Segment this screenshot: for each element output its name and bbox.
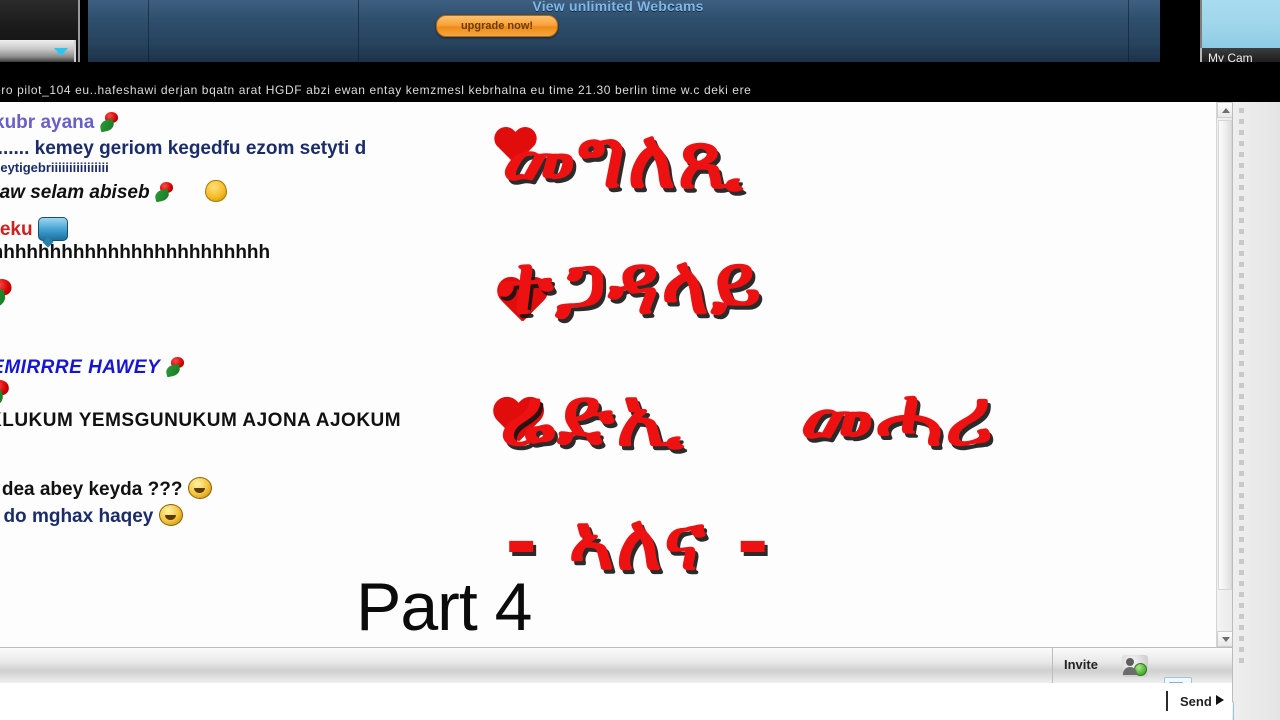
chat-text: a dea abey keyda ???: [0, 479, 182, 500]
my-cam-preview[interactable]: [1200, 0, 1280, 48]
chat-message: vo do mghax haqey: [0, 504, 183, 528]
scroll-up-arrow-icon[interactable]: [1217, 102, 1233, 118]
camera-select-dropdown[interactable]: [0, 40, 76, 62]
rose-emoticon-icon: [0, 380, 14, 408]
chat-message: KLUKUM YEMSGUNUKUM AJONA AJOKUM: [0, 410, 401, 432]
overlay-line-3a: ሬድኢ: [500, 370, 686, 466]
chat-scrollbar[interactable]: [1216, 102, 1233, 647]
panel-grip-dots: [1239, 108, 1244, 668]
rose-emoticon-icon: [166, 357, 188, 377]
plus-badge-icon: [1134, 663, 1147, 676]
chat-text: ............ kemey geriom kegedfu ezom s…: [0, 138, 366, 159]
scroll-down-arrow-icon[interactable]: [1217, 631, 1233, 647]
chat-text: haw selam abiseb: [0, 182, 150, 203]
chat-message: aleku: [0, 217, 68, 241]
chat-message: [0, 384, 10, 405]
overlay-line-2: ተጋዳላይ: [498, 238, 763, 334]
chat-text: riat zeytigebriiiiiiiiiiiiiiii: [0, 160, 109, 175]
send-button[interactable]: Send: [1180, 694, 1224, 709]
chat-text: vo do mghax haqey: [0, 506, 153, 527]
chat-message: haw selam abiseb: [0, 180, 227, 204]
promo-banner[interactable]: View unlimited Webcams upgrade now!: [88, 0, 1160, 63]
scrollbar-thumb[interactable]: [1218, 120, 1232, 590]
chat-text: aleku: [0, 219, 33, 240]
chat-text: SEMIRRRE HAWEY: [0, 357, 160, 378]
panel-gap-left: [0, 62, 88, 82]
rose-emoticon-icon: [0, 279, 18, 309]
chat-text: KLUKUM YEMSGUNUKUM AJONA AJOKUM: [0, 410, 401, 431]
overlay-line-1: መግለጺ: [502, 112, 745, 208]
chat-message: riat zeytigebriiiiiiiiiiiiiiii: [0, 160, 109, 175]
chevron-down-icon: [54, 48, 68, 56]
invite-button[interactable]: Invite: [1064, 657, 1098, 672]
smiley-emoticon-icon: [159, 504, 183, 526]
chat-message: kubr ayana: [0, 112, 122, 134]
thumbs-up-emoticon-icon: [205, 180, 227, 202]
chat-bubble-emoticon-icon: [38, 217, 68, 241]
add-user-icon[interactable]: [1122, 655, 1148, 677]
smiley-emoticon-icon: [188, 477, 212, 499]
message-input-bar[interactable]: Send: [0, 683, 1232, 720]
text-cursor: [1166, 691, 1168, 711]
chat-toolbar: Invite: [0, 647, 1232, 685]
panel-gap-main: [88, 62, 1280, 82]
ticker-text: ero pilot_104 eu..hafeshawi derjan bqatn…: [0, 83, 751, 97]
chat-message: [0, 284, 12, 305]
rose-emoticon-icon: [155, 182, 177, 202]
chat-message: a dea abey keyda ???: [0, 477, 212, 501]
chat-nickname[interactable]: kubr ayana: [0, 112, 94, 133]
chat-text: hhhhhhhhhhhhhhhhhhhhhhhhh: [0, 242, 270, 263]
top-banner-strip: View unlimited Webcams upgrade now! My C…: [0, 0, 1280, 82]
rose-emoticon-icon: [100, 112, 122, 132]
status-ticker: ero pilot_104 eu..hafeshawi derjan bqatn…: [0, 82, 1280, 102]
banner-divider: [1128, 0, 1129, 62]
video-left-panel: [0, 0, 80, 62]
chat-message: hhhhhhhhhhhhhhhhhhhhhhhhh: [0, 242, 270, 264]
promo-text: View unlimited Webcams: [358, 0, 878, 14]
send-arrow-icon: [1216, 695, 1224, 705]
overlay-line-4: - ኣለና -: [505, 498, 771, 589]
chat-message: SEMIRRRE HAWEY: [0, 357, 188, 379]
upgrade-now-button[interactable]: upgrade now!: [436, 15, 558, 37]
overlay-line-3b: መሓሪ: [800, 370, 995, 466]
banner-divider: [148, 0, 149, 62]
part-number-label: Part 4: [356, 568, 531, 646]
toolbar-divider: [1052, 648, 1053, 684]
chat-message: ............ kemey geriom kegedfu ezom s…: [0, 138, 366, 160]
app-window: View unlimited Webcams upgrade now! My C…: [0, 0, 1280, 720]
send-button-label: Send: [1180, 694, 1212, 709]
right-side-panel: [1232, 102, 1280, 720]
